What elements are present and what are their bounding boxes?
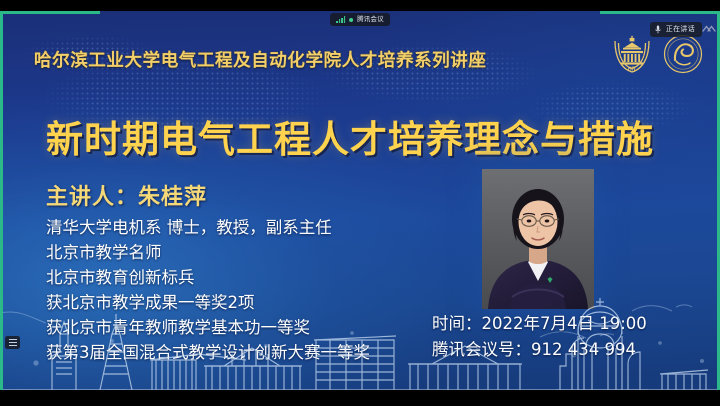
signal-bars-icon [336,16,345,23]
network-status-badge[interactable]: 腾讯会议 [330,13,390,26]
meeting-info-block: 时间：2022年7月4日 19:00 腾讯会议号：912 434 994 [432,311,647,363]
hit-university-logo: HIT [608,31,656,77]
chevron-up-icon[interactable] [702,24,716,33]
slide-main-title: 新时期电气工程人才培养理念与措施 [46,109,654,163]
hit-logo-caption: HIT [628,66,636,72]
lecture-series-title: 哈尔滨工业大学电气工程及自动化学院人才培养系列讲座 [34,47,594,72]
speaking-indicator-chip[interactable]: 正在讲话 [650,22,702,37]
video-call-window: 哈尔滨工业大学电气工程及自动化学院人才培养系列讲座 [0,0,720,406]
bio-line: 获北京市青年教师教学基本功一等奖 [46,315,476,340]
letterbox-bottom [0,390,720,406]
active-speaker-border [600,11,720,14]
university-logos: HIT [608,31,704,77]
speaking-chip-label: 正在讲话 [666,26,695,33]
swirl-emblem-logo [662,33,704,75]
speaker-name-label: 主讲人：朱桂萍 [46,179,207,211]
speaker-bio-list: 清华大学电机系 博士，教授，副系主任 北京市教学名师 北京市教育创新标兵 获北京… [46,215,476,365]
bio-line: 北京市教育创新标兵 [46,265,476,290]
bio-line: 清华大学电机系 博士，教授，副系主任 [46,215,476,240]
active-speaker-border [0,11,3,390]
participant-list-icon[interactable] [5,336,20,349]
speaker-portrait [482,169,594,309]
shared-screen-slide: 哈尔滨工业大学电气工程及自动化学院人才培养系列讲座 [0,11,720,390]
meeting-time: 时间：2022年7月4日 19:00 [432,311,647,337]
bio-line: 获北京市教学成果一等奖2项 [46,290,476,315]
network-badge-label: 腾讯会议 [357,16,384,23]
connected-dot [349,18,353,22]
bio-line: 获第3届全国混合式教学设计创新大赛一等奖 [46,340,476,365]
letterbox-top [0,0,720,11]
active-speaker-border [0,11,100,14]
meeting-number: 腾讯会议号：912 434 994 [432,337,647,363]
bio-line: 北京市教学名师 [46,240,476,265]
microphone-icon [655,25,661,34]
